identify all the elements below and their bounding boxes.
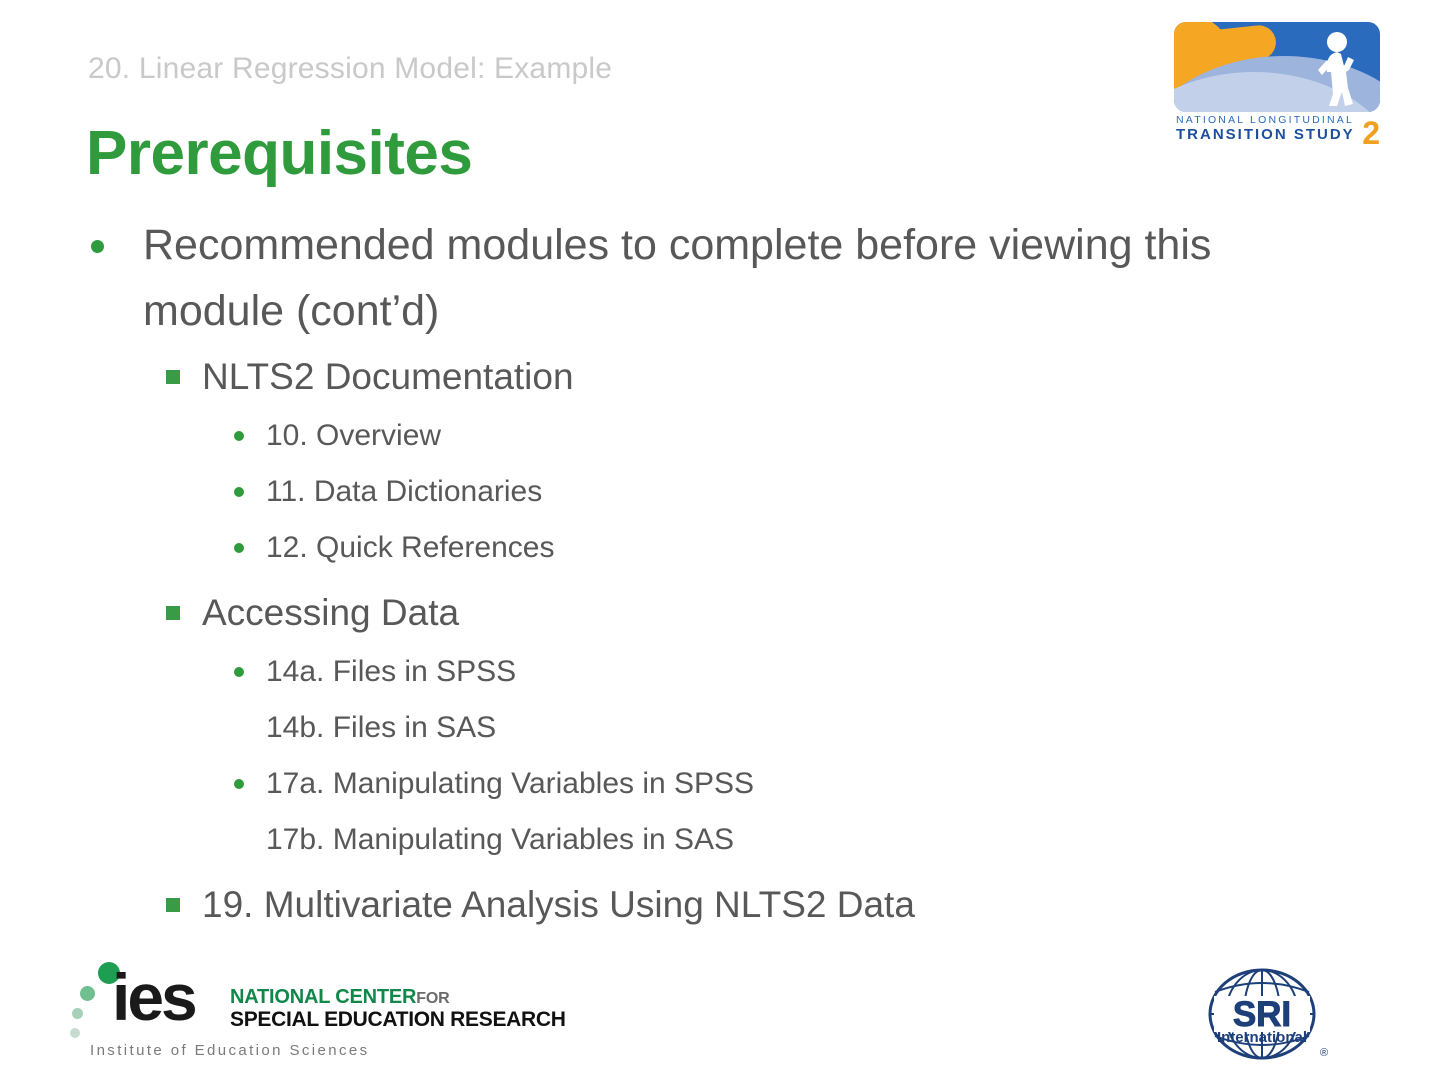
list-item: 14a. Files in SPSS [0, 644, 1440, 700]
square-bullet-icon [166, 370, 180, 384]
ies-dot-icon [80, 986, 95, 1001]
nlts2-wordmark: NATIONAL LONGITUDINAL TRANSITION STUDY 2 [1176, 114, 1380, 143]
square-bullet-icon [166, 898, 180, 912]
ies-national-center-text: NATIONAL CENTER [230, 986, 416, 1008]
list-item-label: 14b. Files in SAS [266, 700, 1440, 756]
bullet-list: Recommended modules to complete before v… [0, 212, 1440, 936]
sri-subtitle-text: International [1217, 1029, 1307, 1046]
small-dot-bullet-icon [234, 779, 244, 789]
nlts2-numeral: 2 [1362, 118, 1380, 148]
list-item-label: 11. Data Dictionaries [266, 464, 1440, 520]
walking-person-icon [1310, 30, 1366, 110]
nlts2-line1: NATIONAL LONGITUDINAL [1176, 114, 1380, 126]
ies-logo: ies NATIONAL CENTERFOR SPECIAL EDUCATION… [70, 962, 470, 1062]
ies-dot-icon [70, 1028, 80, 1038]
list-item: 11. Data Dictionaries [0, 464, 1440, 520]
nlts2-logo: NATIONAL LONGITUDINAL TRANSITION STUDY 2 [1174, 22, 1380, 146]
nlts2-badge-icon [1174, 22, 1380, 112]
small-dot-bullet-icon [234, 487, 244, 497]
list-item-label: NLTS2 Documentation [202, 346, 1440, 408]
small-dot-bullet-icon [234, 543, 244, 553]
list-item-label: 14a. Files in SPSS [266, 644, 1440, 700]
sri-logo: SRI International ® [1196, 968, 1336, 1064]
square-bullet-icon [166, 606, 180, 620]
list-item: 17b. Manipulating Variables in SAS [0, 812, 1440, 868]
list-item: NLTS2 Documentation [0, 346, 1440, 408]
round-dot-bullet-icon [91, 240, 104, 253]
small-dot-bullet-icon [234, 667, 244, 677]
list-item-label: 19. Multivariate Analysis Using NLTS2 Da… [202, 874, 1440, 936]
list-item: 12. Quick References [0, 520, 1440, 576]
list-item-label: Recommended modules to complete before v… [143, 212, 1260, 344]
ies-wordmark: ies [112, 964, 195, 1030]
small-dot-bullet-icon [234, 431, 244, 441]
list-item: 14b. Files in SAS [0, 700, 1440, 756]
list-item-label: 17a. Manipulating Variables in SPSS [266, 756, 1440, 812]
sri-globe-icon: SRI International ® [1196, 968, 1336, 1064]
ies-research-line: SPECIAL EDUCATION RESEARCH [230, 1008, 566, 1032]
nlts2-line2: TRANSITION STUDY [1176, 126, 1380, 143]
list-item-label: 12. Quick References [266, 520, 1440, 576]
slide-canvas: 20. Linear Regression Model: Example Pre… [0, 0, 1440, 1080]
list-item: Recommended modules to complete before v… [0, 212, 1440, 344]
list-item: Accessing Data [0, 582, 1440, 644]
sri-registered-text: ® [1320, 1047, 1328, 1059]
page-title: Prerequisites [86, 118, 472, 189]
list-item: 17a. Manipulating Variables in SPSS [0, 756, 1440, 812]
list-item: 10. Overview [0, 408, 1440, 464]
ies-institute-line: Institute of Education Sciences [90, 1042, 370, 1059]
list-item-label: Accessing Data [202, 582, 1440, 644]
ies-for-text: FOR [416, 990, 449, 1007]
list-item: 19. Multivariate Analysis Using NLTS2 Da… [0, 874, 1440, 936]
list-item-label: 17b. Manipulating Variables in SAS [266, 812, 1440, 868]
slide-eyebrow: 20. Linear Regression Model: Example [88, 52, 612, 86]
list-item-label: 10. Overview [266, 408, 1440, 464]
ies-dot-icon [72, 1008, 83, 1019]
ies-national-center-line: NATIONAL CENTERFOR [230, 986, 449, 1009]
